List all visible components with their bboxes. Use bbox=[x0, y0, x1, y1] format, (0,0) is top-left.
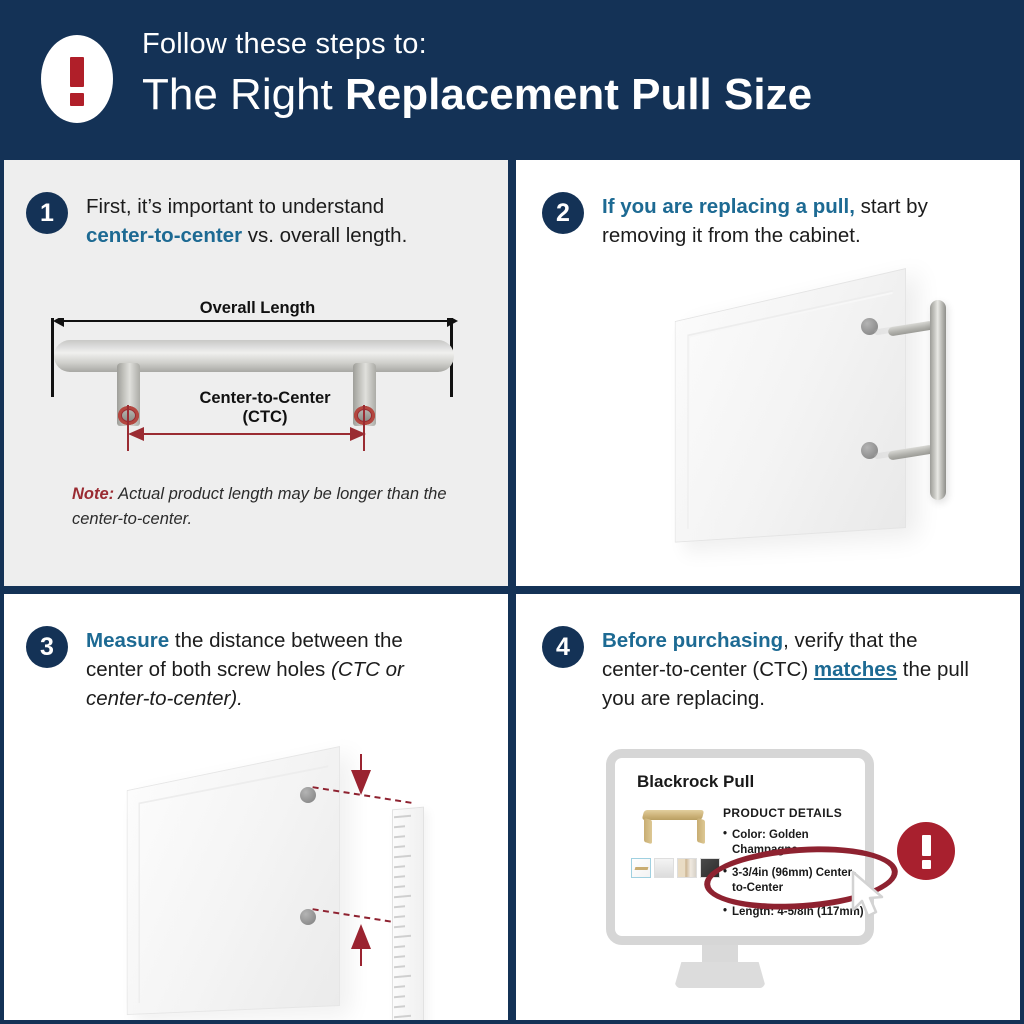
step-1-badge: 1 bbox=[26, 192, 68, 234]
step-1-highlight: center-to-center bbox=[86, 224, 242, 247]
ruler-tick bbox=[394, 955, 405, 958]
measuring-illustration bbox=[0, 594, 508, 1020]
ruler-tick bbox=[394, 865, 405, 868]
header-text-block: Follow these steps to: The Right Replace… bbox=[142, 26, 812, 122]
ruler-tick bbox=[394, 815, 411, 818]
ruler-tick bbox=[394, 975, 411, 978]
exclamation-badge-icon bbox=[897, 822, 955, 880]
ruler-tick bbox=[394, 825, 405, 828]
ruler-tick bbox=[394, 845, 405, 848]
page-title-light: The Right bbox=[142, 70, 345, 119]
ruler bbox=[392, 807, 424, 1020]
step-panel-4: 4 Before purchasing, verify that the cen… bbox=[516, 594, 1024, 1020]
exclamation-glyph bbox=[70, 53, 84, 105]
note-label: Note: bbox=[72, 485, 114, 503]
ctc-label: Center-to-Center (CTC) bbox=[145, 389, 385, 427]
wood-cabinet-swatch[interactable] bbox=[677, 858, 697, 878]
step-panel-3: 3 Measure the distance between the cente… bbox=[0, 594, 508, 1020]
ruler-tick bbox=[394, 895, 411, 898]
ruler-tick bbox=[394, 1015, 411, 1018]
ruler-tick bbox=[394, 855, 411, 858]
mouse-cursor-icon bbox=[849, 870, 889, 922]
step-1-text-a: First, it’s important to understand bbox=[86, 195, 384, 218]
step-panel-1: 1 First, it’s important to understand ce… bbox=[0, 160, 508, 586]
ruler-tick bbox=[394, 1005, 405, 1008]
step-panel-2: 2 If you are replacing a pull, start by … bbox=[516, 160, 1024, 586]
step-1-text: First, it’s important to understand cent… bbox=[86, 192, 456, 250]
steps-grid: 1 First, it’s important to understand ce… bbox=[0, 160, 1024, 1024]
cabinet-door bbox=[675, 268, 906, 543]
ruler-tick bbox=[394, 995, 405, 998]
header-kicker: Follow these steps to: bbox=[142, 26, 812, 62]
product-image bbox=[635, 804, 713, 850]
satin-nickel-swatch[interactable] bbox=[654, 858, 674, 878]
ctc-label-line1: Center-to-Center bbox=[145, 389, 385, 408]
infographic-root: Follow these steps to: The Right Replace… bbox=[0, 0, 1024, 1024]
overall-length-label: Overall Length bbox=[45, 299, 470, 318]
border-right bbox=[1020, 160, 1024, 1024]
note-text: Actual product length may be longer than… bbox=[72, 485, 447, 528]
pull-dimension-diagram: Overall Length Center-to-Center (CTC) bbox=[45, 305, 470, 450]
product-title: Blackrock Pull bbox=[637, 772, 754, 792]
ruler-tick bbox=[394, 925, 405, 928]
border-left bbox=[0, 160, 4, 1024]
ruler-tick bbox=[394, 835, 405, 838]
monitor-base bbox=[674, 962, 766, 988]
product-page-illustration: Blackrock Pull PRODUCT DETAILS Color: Go… bbox=[516, 594, 1024, 1020]
border-bottom bbox=[0, 1020, 1024, 1024]
ruler-tick bbox=[394, 885, 405, 888]
ruler-tick bbox=[394, 915, 405, 918]
ruler-tick bbox=[394, 985, 405, 988]
horizontal-divider bbox=[0, 586, 1024, 594]
pull-bar bbox=[54, 340, 454, 372]
step-1-head: 1 First, it’s important to understand ce… bbox=[26, 192, 456, 250]
ctc-arrow bbox=[128, 427, 366, 441]
gold-pull-swatch[interactable] bbox=[631, 858, 651, 878]
product-details-heading: PRODUCT DETAILS bbox=[723, 806, 868, 820]
ruler-tick bbox=[394, 935, 411, 938]
step-1-note: Note: Actual product length may be longe… bbox=[72, 482, 452, 532]
ctc-label-line2: (CTC) bbox=[145, 408, 385, 427]
page-title-bold: Replacement Pull Size bbox=[345, 70, 812, 119]
ruler-tick bbox=[394, 875, 405, 878]
exclamation-icon bbox=[41, 35, 113, 123]
cabinet-pull bbox=[930, 300, 946, 500]
step-1-text-b: vs. overall length. bbox=[242, 224, 407, 247]
page-title: The Right Replacement Pull Size bbox=[142, 68, 812, 122]
screw-hole-bottom bbox=[300, 909, 316, 925]
screw-hole-top bbox=[300, 787, 316, 803]
ruler-tick bbox=[394, 905, 405, 908]
cabinet-removal-illustration bbox=[516, 160, 1024, 586]
ruler-tick bbox=[394, 965, 405, 968]
ruler-tick bbox=[394, 945, 405, 948]
header-banner: Follow these steps to: The Right Replace… bbox=[0, 0, 1024, 160]
